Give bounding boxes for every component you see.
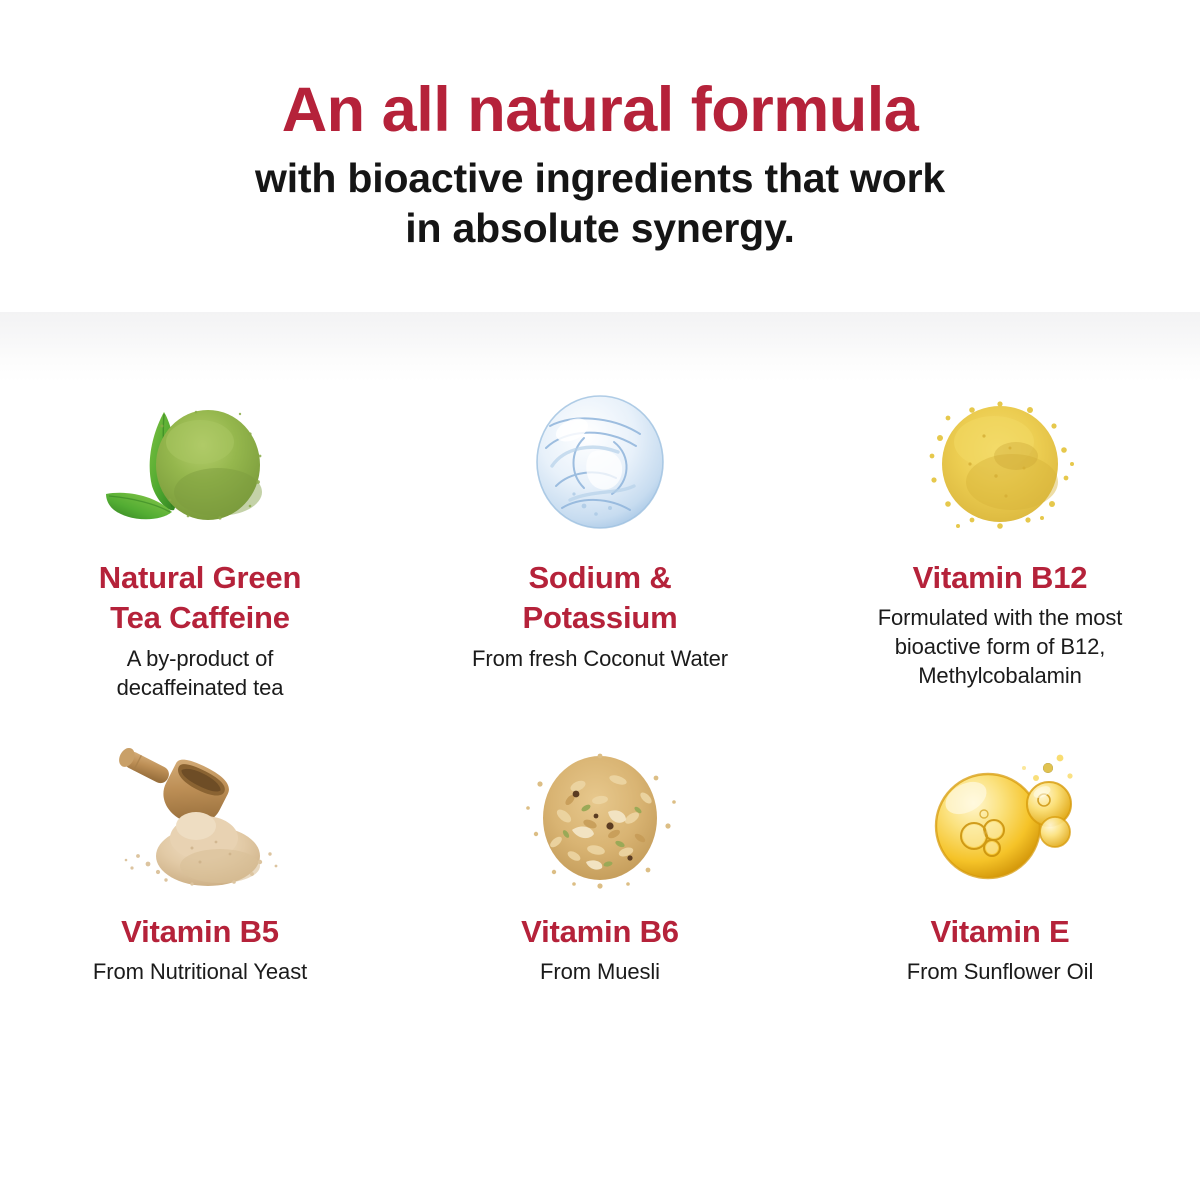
ingredient-description: A by-product of decaffeinated tea — [117, 644, 284, 702]
ingredient-title: Vitamin B6 — [521, 912, 679, 952]
hero-section: An all natural formula with bioactive in… — [0, 0, 1200, 312]
ingredient-title-line-1: Vitamin E — [931, 912, 1070, 952]
ingredient-card-vitamin-b6: Vitamin B6 From Muesli — [400, 738, 800, 1028]
ingredient-description-line-3: Methylcobalamin — [878, 661, 1123, 690]
water-sphere-icon — [500, 390, 700, 540]
ingredient-title-line-1: Natural Green — [99, 558, 301, 598]
page-subtitle-line-2: in absolute synergy. — [0, 203, 1200, 253]
oil-droplet-icon — [900, 738, 1100, 898]
ingredients-row-2: Vitamin B5 From Nutritional Yeast — [0, 738, 1200, 1028]
ingredient-description: From fresh Coconut Water — [472, 644, 728, 673]
ingredients-grid: Natural Green Tea Caffeine A by-product … — [0, 382, 1200, 1028]
ingredient-description-line-2: decaffeinated tea — [117, 673, 284, 702]
ingredient-title: Vitamin E — [931, 912, 1070, 952]
ingredients-row-1: Natural Green Tea Caffeine A by-product … — [0, 382, 1200, 738]
ingredient-title-line-2: Tea Caffeine — [99, 598, 301, 638]
ingredient-card-vitamin-b5: Vitamin B5 From Nutritional Yeast — [0, 738, 400, 1028]
ingredient-description: Formulated with the most bioactive form … — [878, 603, 1123, 690]
ingredient-title-line-1: Vitamin B5 — [121, 912, 279, 952]
ingredient-description: From Nutritional Yeast — [93, 957, 307, 986]
ingredient-description-line-1: From Muesli — [540, 957, 660, 986]
ingredient-description-line-1: From Sunflower Oil — [907, 957, 1093, 986]
ingredient-description-line-1: Formulated with the most — [878, 603, 1123, 632]
wooden-scoop-yeast-icon — [100, 738, 300, 898]
green-tea-powder-icon — [100, 390, 300, 540]
page-title: An all natural formula — [0, 76, 1200, 144]
ingredient-description: From Muesli — [540, 957, 660, 986]
ingredient-title: Natural Green Tea Caffeine — [99, 558, 301, 639]
ingredient-title-line-1: Sodium & — [523, 558, 678, 598]
page-subtitle: with bioactive ingredients that work in … — [0, 153, 1200, 253]
ingredient-title-line-1: Vitamin B6 — [521, 912, 679, 952]
ingredient-description-line-1: From Nutritional Yeast — [93, 957, 307, 986]
ingredient-card-sodium-potassium: Sodium & Potassium From fresh Coconut Wa… — [400, 382, 800, 738]
muesli-pile-icon — [500, 738, 700, 898]
ingredient-description: From Sunflower Oil — [907, 957, 1093, 986]
ingredient-card-green-tea: Natural Green Tea Caffeine A by-product … — [0, 382, 400, 738]
ingredient-description-line-2: bioactive form of B12, — [878, 632, 1123, 661]
section-divider-gradient — [0, 312, 1200, 382]
page-subtitle-line-1: with bioactive ingredients that work — [0, 153, 1200, 203]
ingredient-description-line-1: From fresh Coconut Water — [472, 644, 728, 673]
ingredient-title-line-2: Potassium — [523, 598, 678, 638]
ingredient-title-line-1: Vitamin B12 — [913, 558, 1088, 598]
ingredient-card-vitamin-e: Vitamin E From Sunflower Oil — [800, 738, 1200, 1028]
yellow-powder-icon — [900, 390, 1100, 540]
ingredient-title: Vitamin B5 — [121, 912, 279, 952]
ingredient-card-vitamin-b12: Vitamin B12 Formulated with the most bio… — [800, 382, 1200, 738]
ingredient-title: Vitamin B12 — [913, 558, 1088, 598]
ingredient-title: Sodium & Potassium — [523, 558, 678, 639]
ingredient-description-line-1: A by-product of — [117, 644, 284, 673]
